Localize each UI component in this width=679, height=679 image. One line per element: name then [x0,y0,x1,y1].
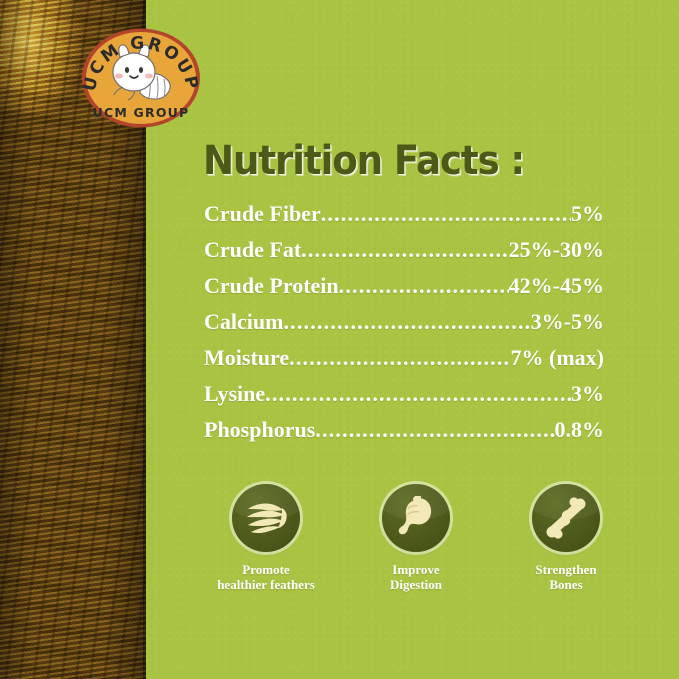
benefit-label-line2: healthier feathers [217,577,315,592]
fact-value: 7% (max) [511,345,604,371]
table-row: Crude Fat ..............................… [204,237,604,273]
benefit-label-line2: Digestion [390,577,442,592]
benefit-label: Strengthen Bones [535,562,596,592]
fact-label: Phosphorus [204,417,315,443]
stomach-icon [382,484,450,552]
fact-value: 42%-45% [509,273,604,299]
table-row: Phosphorus .............................… [204,417,604,453]
fact-label: Crude Fat [204,237,301,263]
fact-value: 5% [571,201,604,227]
dot-leader: ........................................… [289,345,510,371]
benefit-label: Improve Digestion [390,562,442,592]
fact-label: Crude Fiber [204,201,321,227]
nutrition-facts-infographic: UCM GROUP UCM GROUP Nutrition Facts : Cr… [0,0,679,679]
benefit-label-line2: Bones [535,577,596,592]
dot-leader: ........................................… [301,237,509,263]
fact-label: Moisture [204,345,289,371]
benefit-item-bones: Strengthen Bones [496,484,636,592]
fact-value: 0.8% [555,417,605,443]
benefit-item-feathers: Promote healthier feathers [196,484,336,592]
dot-leader: ........................................… [321,201,571,227]
table-row: Crude Fiber ............................… [204,201,604,237]
logo-bottom-text: UCM GROUP [93,105,190,120]
benefit-label-line1: Improve [390,562,442,577]
dot-leader: ........................................… [339,273,509,299]
fact-label: Calcium [204,309,283,335]
benefits-row: Promote healthier feathers Improve Diges… [196,484,636,592]
page-title: Nutrition Facts : [203,138,524,184]
fact-value: 25%-30% [509,237,604,263]
benefit-label-line1: Promote [217,562,315,577]
table-row: Crude Protein ..........................… [204,273,604,309]
brand-logo[interactable]: UCM GROUP UCM GROUP [80,27,202,129]
fact-label: Crude Protein [204,273,339,299]
benefit-label: Promote healthier feathers [217,562,315,592]
dot-leader: ........................................… [283,309,530,335]
table-row: Calcium ................................… [204,309,604,345]
table-row: Lysine .................................… [204,381,604,417]
fact-value: 3% [571,381,604,407]
fact-value: 3%-5% [531,309,604,335]
fact-label: Lysine [204,381,265,407]
benefit-item-digestion: Improve Digestion [346,484,486,592]
dot-leader: ........................................… [265,381,571,407]
dot-leader: ........................................… [315,417,554,443]
benefit-label-line1: Strengthen [535,562,596,577]
feather-icon [232,484,300,552]
nutrition-facts-list: Crude Fiber ............................… [204,201,604,453]
table-row: Moisture ...............................… [204,345,604,381]
bone-joint-icon [532,484,600,552]
